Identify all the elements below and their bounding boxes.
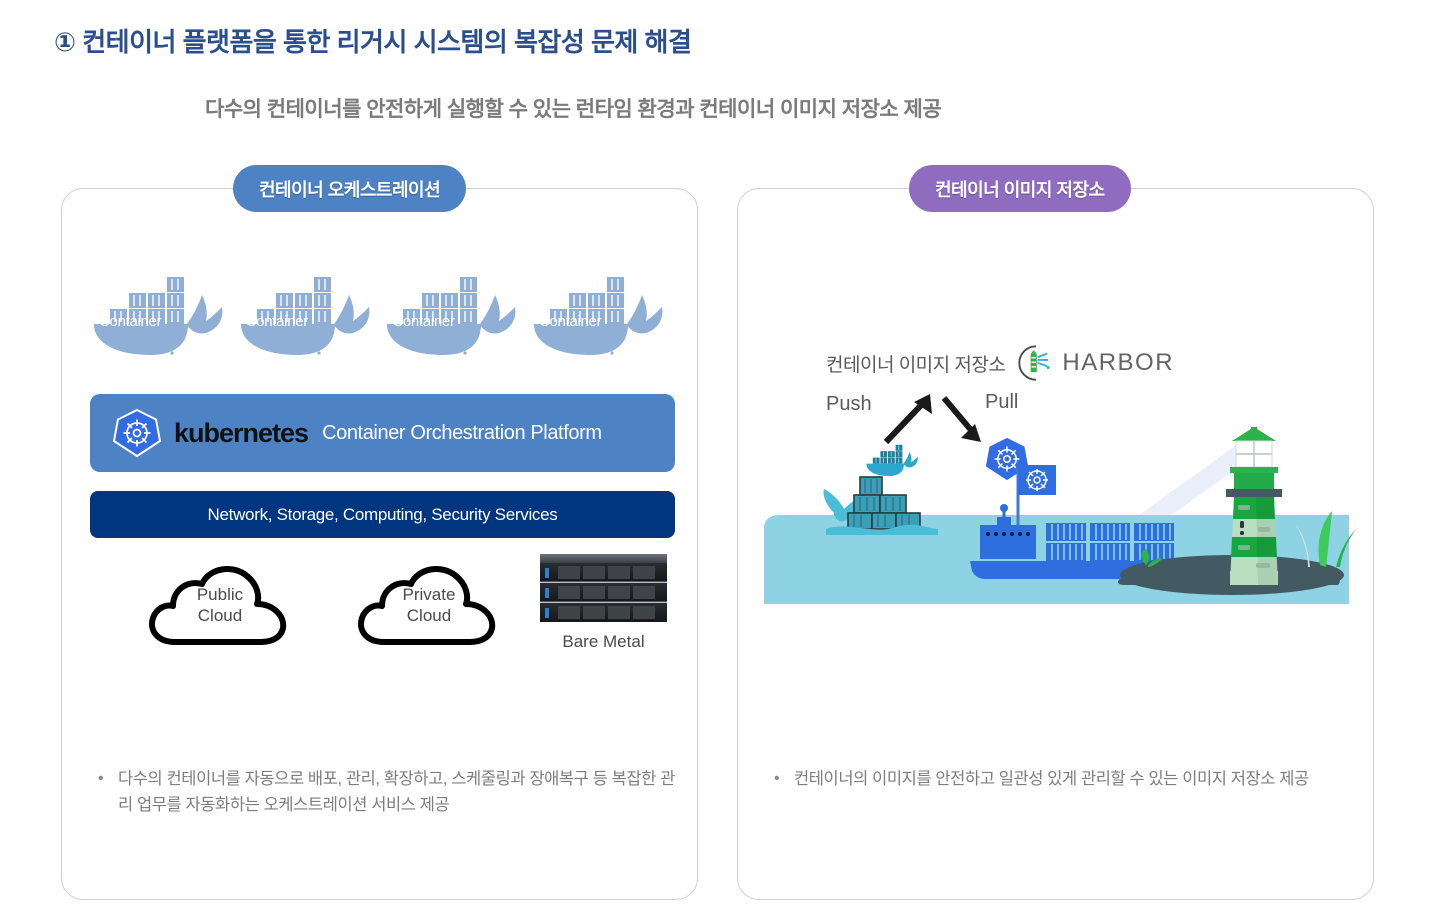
card-container-image-registry: 컨테이너 이미지 저장소 컨테이너 이미지 저장소 HARBOR [737, 188, 1374, 900]
kubernetes-platform-bar: kubernetes Container Orchestration Platf… [90, 394, 675, 472]
cloud-label-line2: Cloud [145, 605, 295, 626]
docker-whale-icon: Container [381, 265, 526, 361]
docker-whale-icon: Container [88, 265, 233, 361]
cloud-label-line1: Public [145, 584, 295, 605]
page-title: ① 컨테이너 플랫폼을 통한 리거시 시스템의 복잡성 문제 해결 [54, 22, 691, 59]
cloud-icon-public: Public Cloud [145, 554, 295, 650]
services-bar: Network, Storage, Computing, Security Se… [90, 491, 675, 538]
card-container-orchestration: 컨테이너 오케스트레이션 [61, 188, 698, 900]
bullet-text: 컨테이너의 이미지를 안전하고 일관성 있게 관리할 수 있는 이미지 저장소 … [794, 767, 1309, 793]
docker-whale-icon: Container [528, 265, 673, 361]
server-rack-icon [536, 554, 671, 626]
right-card-bullets: • 컨테이너의 이미지를 안전하고 일관성 있게 관리할 수 있는 이미지 저장… [768, 767, 1358, 801]
harbor-heading: 컨테이너 이미지 저장소 HARBOR [826, 344, 1174, 382]
container-label: Container [392, 313, 454, 330]
list-item: • 컨테이너의 이미지를 안전하고 일관성 있게 관리할 수 있는 이미지 저장… [768, 767, 1358, 793]
badge-container-image-registry: 컨테이너 이미지 저장소 [909, 165, 1131, 212]
cloud-label-private: Private Cloud [354, 584, 504, 627]
kubernetes-helm-icon [112, 408, 162, 458]
cloud-label-line2: Cloud [354, 605, 504, 626]
left-card-bullets: • 다수의 컨테이너를 자동으로 배포, 관리, 확장하고, 스케줄링과 장애복… [92, 767, 682, 826]
bullet-text: 다수의 컨테이너를 자동으로 배포, 관리, 확장하고, 스케줄링과 장애복구 … [118, 767, 682, 818]
container-label: Container [246, 313, 308, 330]
docker-whale-icon: Container [235, 265, 380, 361]
container-label: Container [539, 313, 601, 330]
bare-metal-label: Bare Metal [536, 632, 671, 652]
cloud-icon-private: Private Cloud [354, 554, 504, 650]
harbor-heading-label: 컨테이너 이미지 저장소 [826, 350, 1005, 377]
harbor-scene-illustration [764, 409, 1349, 604]
badge-container-orchestration: 컨테이너 오케스트레이션 [233, 165, 466, 212]
kubernetes-tagline: Container Orchestration Platform [322, 422, 602, 445]
docker-container-row: Container [88, 265, 673, 361]
container-label: Container [99, 313, 161, 330]
harbor-lighthouse-icon [1017, 344, 1055, 382]
bullet-dot-icon: • [92, 767, 118, 818]
page-subtitle: 다수의 컨테이너를 안전하게 실행할 수 있는 런타임 환경과 컨테이너 이미지… [205, 93, 941, 123]
harbor-brand: HARBOR [1062, 349, 1174, 377]
cloud-label-public: Public Cloud [145, 584, 295, 627]
kubernetes-brand: kubernetes [174, 418, 308, 449]
bullet-dot-icon: • [768, 767, 794, 793]
infrastructure-row: Public Cloud Private Cloud [90, 554, 675, 664]
list-item: • 다수의 컨테이너를 자동으로 배포, 관리, 확장하고, 스케줄링과 장애복… [92, 767, 682, 818]
cloud-label-line1: Private [354, 584, 504, 605]
